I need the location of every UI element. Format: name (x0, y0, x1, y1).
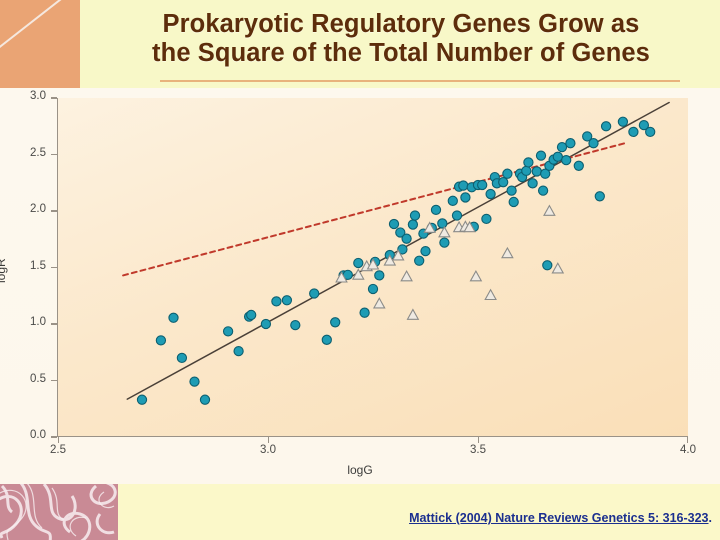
data-point-circle (486, 189, 495, 198)
scatter-plot-canvas (58, 98, 688, 437)
y-tick (51, 97, 57, 98)
data-point-triangle (544, 206, 555, 216)
data-point-circle (234, 347, 243, 356)
x-axis-label: logG (0, 463, 720, 477)
x-tick-label: 4.0 (668, 444, 708, 456)
trend-lines-group (123, 103, 669, 400)
x-tick-label: 3.0 (248, 444, 288, 456)
slide-root: Prokaryotic Regulatory Genes Grow as the… (0, 0, 720, 540)
data-point-circle (543, 261, 552, 270)
data-point-circle (503, 169, 512, 178)
data-point-circle (354, 258, 363, 267)
data-point-circle (331, 318, 340, 327)
y-tick-label: 1.0 (2, 316, 46, 328)
title-line-1: Prokaryotic Regulatory Genes Grow as (163, 10, 640, 38)
data-point-circle (562, 156, 571, 165)
y-tick (51, 323, 57, 324)
data-point-triangle (408, 310, 419, 320)
plot-area (58, 98, 688, 437)
data-point-triangle (439, 227, 450, 237)
page-title: Prokaryotic Regulatory Genes Grow as the… (86, 2, 716, 76)
data-point-triangle (471, 271, 482, 281)
data-point-circle (247, 310, 256, 319)
y-tick (51, 267, 57, 268)
y-tick-label: 2.5 (2, 147, 46, 159)
y-tick-label: 2.0 (2, 203, 46, 215)
data-point-circle (528, 179, 537, 188)
data-point-circle (177, 353, 186, 362)
data-point-circle (375, 271, 384, 280)
data-point-triangle (401, 271, 412, 281)
y-tick-label: 0.5 (2, 373, 46, 385)
data-point-circle (272, 297, 281, 306)
y-axis-label: logR (0, 258, 8, 283)
data-point-circle (499, 178, 508, 187)
data-point-circle (574, 161, 583, 170)
y-tick (51, 380, 57, 381)
data-point-circle (190, 377, 199, 386)
data-point-circle (536, 151, 545, 160)
data-point-circle (322, 335, 331, 344)
header-band: Prokaryotic Regulatory Genes Grow as the… (0, 0, 720, 88)
data-point-circle (421, 247, 430, 256)
data-point-circle (440, 238, 449, 247)
y-tick (51, 436, 57, 437)
data-point-circle (532, 167, 541, 176)
data-point-circle (589, 139, 598, 148)
data-point-circle (368, 284, 377, 293)
data-point-circle (291, 321, 300, 330)
data-point-circle (410, 211, 419, 220)
decorative-texture-image (0, 484, 118, 540)
citation-text: Mattick (2004) Nature Reviews Genetics 5… (409, 511, 708, 525)
data-point-circle (408, 220, 417, 229)
data-point-circle (431, 205, 440, 214)
data-point-circle (507, 186, 516, 195)
data-point-circle (156, 336, 165, 345)
data-point-circle (448, 196, 457, 205)
data-point-circle (595, 192, 604, 201)
data-point-circle (524, 158, 533, 167)
data-point-circle (389, 219, 398, 228)
data-point-circle (461, 193, 470, 202)
footer-band: Mattick (2004) Nature Reviews Genetics 5… (0, 484, 720, 540)
y-axis-line (57, 98, 58, 437)
accent-block (0, 0, 80, 88)
data-point-circle (539, 186, 548, 195)
data-point-circle (509, 197, 518, 206)
data-point-triangle (485, 290, 496, 300)
data-point-circle (602, 122, 611, 131)
x-tick (687, 437, 688, 443)
citation-period: . (709, 511, 712, 525)
data-point-circle (224, 327, 233, 336)
data-point-triangle (502, 248, 513, 258)
data-point-circle (415, 256, 424, 265)
data-point-circle (478, 180, 487, 189)
data-point-circle (402, 234, 411, 243)
deco-svg (0, 484, 118, 540)
data-point-circle (200, 395, 209, 404)
x-tick (58, 437, 59, 443)
data-point-circle (452, 211, 461, 220)
chart-figure: 0.00.51.01.52.02.53.02.53.03.54.0 logR l… (0, 88, 720, 484)
data-point-circle (360, 308, 369, 317)
x-axis-line (57, 436, 688, 437)
y-tick-label: 1.5 (2, 260, 46, 272)
title-underline (160, 80, 680, 82)
y-tick (51, 154, 57, 155)
data-point-circle (282, 296, 291, 305)
x-tick (478, 437, 479, 443)
x-tick (268, 437, 269, 443)
data-point-circle (566, 139, 575, 148)
data-points-group (137, 117, 654, 404)
data-point-circle (629, 127, 638, 136)
data-point-circle (557, 143, 566, 152)
citation-link[interactable]: Mattick (2004) Nature Reviews Genetics 5… (409, 511, 712, 525)
data-point-circle (482, 214, 491, 223)
x-tick-label: 3.5 (458, 444, 498, 456)
data-point-triangle (552, 263, 563, 273)
data-point-circle (646, 127, 655, 136)
y-tick-label: 3.0 (2, 90, 46, 102)
data-point-circle (522, 166, 531, 175)
y-tick-label: 0.0 (2, 429, 46, 441)
y-tick (51, 210, 57, 211)
data-point-circle (438, 219, 447, 228)
data-point-circle (169, 313, 178, 322)
data-point-triangle (374, 298, 385, 308)
diagonal-stripe-decoration (0, 0, 80, 54)
title-line-2: the Square of the Total Number of Genes (152, 39, 650, 67)
data-point-circle (618, 117, 627, 126)
data-point-circle (137, 395, 146, 404)
data-point-circle (310, 289, 319, 298)
data-point-circle (459, 181, 468, 190)
data-point-circle (553, 152, 562, 161)
x-tick-label: 2.5 (38, 444, 78, 456)
data-point-circle (261, 319, 270, 328)
